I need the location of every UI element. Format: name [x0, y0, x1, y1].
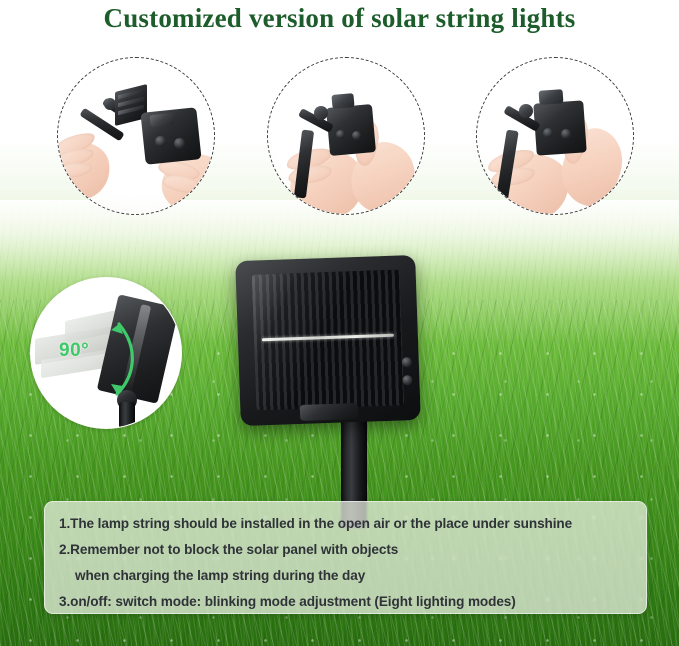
- power-button[interactable]: [402, 357, 412, 367]
- instruction-item: 2.Remember not to block the solar panel …: [59, 537, 632, 563]
- mode-button[interactable]: [402, 375, 412, 385]
- housing-button: [336, 130, 345, 139]
- instruction-item: 1.The lamp string should be installed in…: [59, 511, 632, 537]
- step-1-circle: [57, 57, 215, 215]
- page-title: Customized version of solar string light…: [0, 0, 679, 38]
- housing-button: [543, 128, 553, 138]
- rotation-detail-circle: 90°: [30, 277, 182, 429]
- step-2-circle: [267, 57, 425, 215]
- housing-button: [352, 131, 361, 140]
- housing-button: [174, 138, 185, 149]
- housing-port: [149, 113, 174, 127]
- panel-base-bracket: [300, 403, 359, 421]
- product-infographic: Customized version of solar string light…: [0, 0, 679, 646]
- rotation-angle-label: 90°: [59, 340, 89, 362]
- step-2-photo: [268, 58, 424, 214]
- instruction-item: when charging the lamp string during the…: [59, 563, 632, 589]
- step-3-circle: [476, 57, 634, 215]
- rotation-detail-photo: 90°: [31, 278, 181, 428]
- rotation-arrow-icon: [31, 278, 181, 428]
- instructions-panel: 1.The lamp string should be installed in…: [44, 501, 647, 614]
- housing-button: [155, 136, 166, 147]
- panel-housing: [533, 100, 587, 155]
- panel-top-clip: [539, 89, 564, 105]
- stake-hinge: [314, 106, 328, 120]
- panel-top-clip: [331, 93, 354, 109]
- housing-button: [561, 129, 571, 139]
- instruction-item: 3.on/off: switch mode: blinking mode adj…: [59, 589, 632, 615]
- panel-housing: [235, 255, 421, 426]
- step-3-photo: [477, 58, 633, 214]
- panel-housing: [326, 104, 376, 156]
- step-1-photo: [58, 58, 214, 214]
- stake-hinge: [519, 104, 533, 118]
- instructions-list: 1.The lamp string should be installed in…: [45, 502, 646, 615]
